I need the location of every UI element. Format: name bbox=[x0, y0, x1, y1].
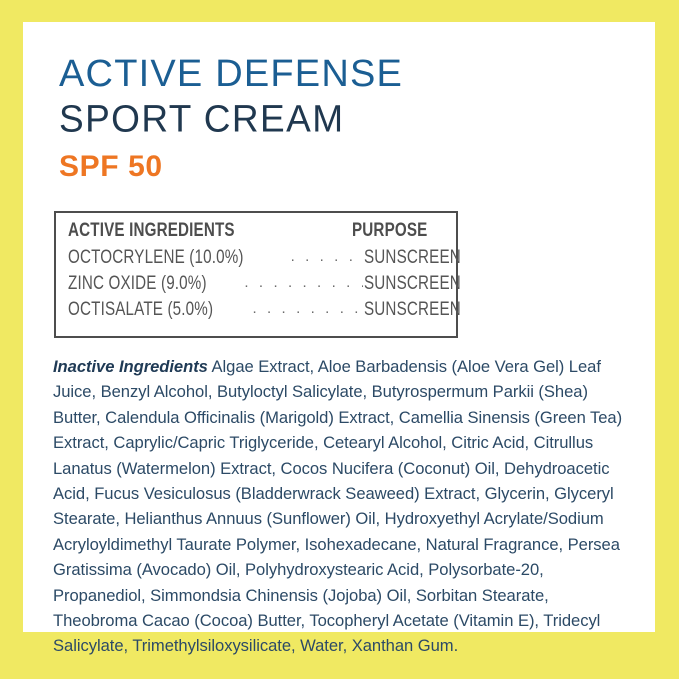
active-ingredients-table: ACTIVE INGREDIENTS PURPOSE OCTOCRYLENE (… bbox=[68, 220, 446, 325]
active-ingredient-name: ZINC OXIDE (9.0%) bbox=[68, 273, 207, 295]
column-header-active-ingredients: ACTIVE INGREDIENTS bbox=[68, 220, 235, 242]
table-row: OCTISALATE (5.0%) . . . . . . . . . . . … bbox=[68, 299, 446, 325]
table-row: OCTOCRYLENE (10.0%) . . . . . . . . . . … bbox=[68, 247, 446, 273]
table-row: ZINC OXIDE (9.0%) . . . . . . . . . . . … bbox=[68, 273, 446, 299]
active-ingredient-purpose: SUNSCREEN bbox=[364, 273, 461, 295]
title-block: ACTIVE DEFENSE SPORT CREAM SPF 50 bbox=[59, 52, 619, 187]
brand-name-primary: ACTIVE DEFENSE bbox=[59, 52, 619, 96]
row-name-cell: OCTOCRYLENE (10.0%) . . . . . . . . . . … bbox=[68, 247, 364, 269]
row-name-cell: ZINC OXIDE (9.0%) . . . . . . . . . . . … bbox=[68, 273, 364, 295]
dot-leader: . . . . . . . . . . . . . . . bbox=[244, 274, 363, 291]
spf-rating: SPF 50 bbox=[59, 147, 619, 187]
active-ingredients-box: ACTIVE INGREDIENTS PURPOSE OCTOCRYLENE (… bbox=[54, 211, 458, 338]
label-white-panel: ACTIVE DEFENSE SPORT CREAM SPF 50 ACTIVE… bbox=[23, 22, 655, 632]
header-cell-purpose: PURPOSE bbox=[352, 220, 446, 242]
active-ingredient-name: OCTOCRYLENE (10.0%) bbox=[68, 247, 244, 269]
product-label-canvas: ACTIVE DEFENSE SPORT CREAM SPF 50 ACTIVE… bbox=[0, 0, 679, 679]
table-header-row: ACTIVE INGREDIENTS PURPOSE bbox=[68, 220, 446, 247]
active-ingredient-name: OCTISALATE (5.0%) bbox=[68, 299, 213, 321]
row-purpose-cell: SUNSCREEN bbox=[364, 299, 462, 321]
header-cell-active-ingredients: ACTIVE INGREDIENTS bbox=[68, 220, 352, 242]
dot-leader: . . . . . . . . . . . . bbox=[291, 248, 363, 265]
column-header-purpose: PURPOSE bbox=[352, 220, 427, 242]
active-ingredient-purpose: SUNSCREEN bbox=[364, 299, 461, 321]
row-purpose-cell: SUNSCREEN bbox=[364, 273, 462, 295]
inactive-ingredients-label: Inactive Ingredients bbox=[53, 357, 208, 376]
inactive-ingredients-list: Algae Extract, Aloe Barbadensis (Aloe Ve… bbox=[53, 357, 622, 655]
dot-leader: . . . . . . . . . . . . . . . bbox=[252, 300, 363, 317]
row-purpose-cell: SUNSCREEN bbox=[364, 247, 462, 269]
active-ingredient-purpose: SUNSCREEN bbox=[364, 247, 461, 269]
brand-name-secondary: SPORT CREAM bbox=[59, 96, 619, 142]
inactive-ingredients-paragraph: Inactive Ingredients Algae Extract, Aloe… bbox=[53, 354, 633, 659]
row-name-cell: OCTISALATE (5.0%) . . . . . . . . . . . … bbox=[68, 299, 364, 321]
